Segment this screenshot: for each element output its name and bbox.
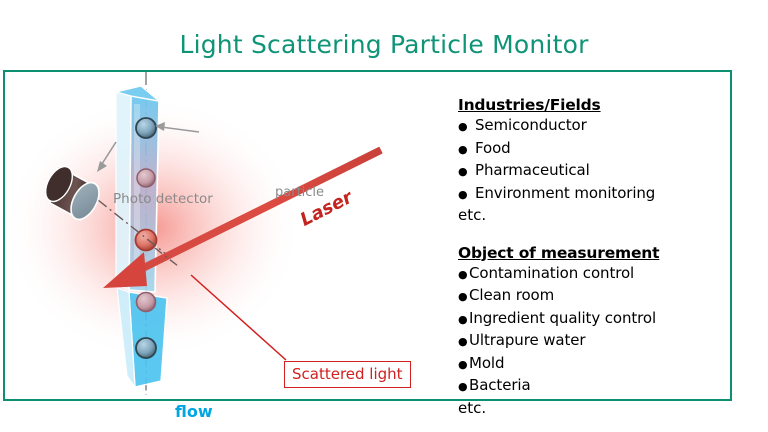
bullet-icon [458, 330, 469, 353]
particle-node [137, 169, 155, 187]
bullet-icon [458, 183, 475, 206]
list-item: Environment monitoring [458, 183, 728, 206]
list-item-label: Semiconductor [475, 115, 587, 136]
list-item: Clean room [458, 285, 728, 308]
bullet-icon [458, 375, 469, 398]
list-item-label: Mold [469, 353, 504, 374]
bullet-icon [458, 308, 469, 331]
list-item-label: Ingredient quality control [469, 308, 656, 329]
bullet-icon [458, 160, 475, 183]
list-item-label: Clean room [469, 285, 554, 306]
list-item: Food [458, 138, 728, 161]
industries-footer: etc. [458, 205, 728, 226]
bullet-icon [458, 115, 475, 138]
diagram-svg [3, 70, 433, 401]
list-item-label: Contamination control [469, 263, 634, 284]
panel-spacer [458, 226, 728, 243]
list-item: Contamination control [458, 263, 728, 286]
object-list: Contamination control Clean room Ingredi… [458, 263, 728, 398]
bullet-icon [458, 353, 469, 376]
info-panel: Industries/Fields Semiconductor Food Pha… [458, 95, 728, 418]
page-root: Light Scattering Particle Monitor [0, 0, 768, 432]
industries-list: Semiconductor Food Pharmaceutical Enviro… [458, 115, 728, 205]
industries-heading: Industries/Fields [458, 95, 728, 115]
list-item: Pharmaceutical [458, 160, 728, 183]
particle-node [137, 293, 156, 312]
particle-node [136, 118, 156, 138]
list-item-label: Food [475, 138, 511, 159]
list-item-label: Bacteria [469, 375, 531, 396]
object-footer: etc. [458, 398, 728, 419]
label-particle: particle [275, 185, 324, 200]
list-item: Ultrapure water [458, 330, 728, 353]
list-item: Ingredient quality control [458, 308, 728, 331]
light-scattering-diagram: Photo detector particle Laser flow Scatt… [3, 70, 433, 401]
panel-object-of-measurement: Object of measurement Contamination cont… [458, 243, 728, 419]
label-flow: flow [175, 402, 213, 421]
label-photo-detector: Photo detector [113, 191, 213, 207]
list-item: Mold [458, 353, 728, 376]
bullet-icon [458, 138, 475, 161]
list-item: Bacteria [458, 375, 728, 398]
object-heading: Object of measurement [458, 243, 728, 263]
bullet-icon [458, 285, 469, 308]
list-item-label: Pharmaceutical [475, 160, 590, 181]
particle-node [136, 338, 156, 358]
list-item-label: Ultrapure water [469, 330, 586, 351]
page-title: Light Scattering Particle Monitor [0, 30, 768, 59]
bullet-icon [458, 263, 469, 286]
panel-industries: Industries/Fields Semiconductor Food Pha… [458, 95, 728, 226]
label-scattered-light: Scattered light [284, 361, 411, 388]
list-item: Semiconductor [458, 115, 728, 138]
list-item-label: Environment monitoring [475, 183, 655, 204]
